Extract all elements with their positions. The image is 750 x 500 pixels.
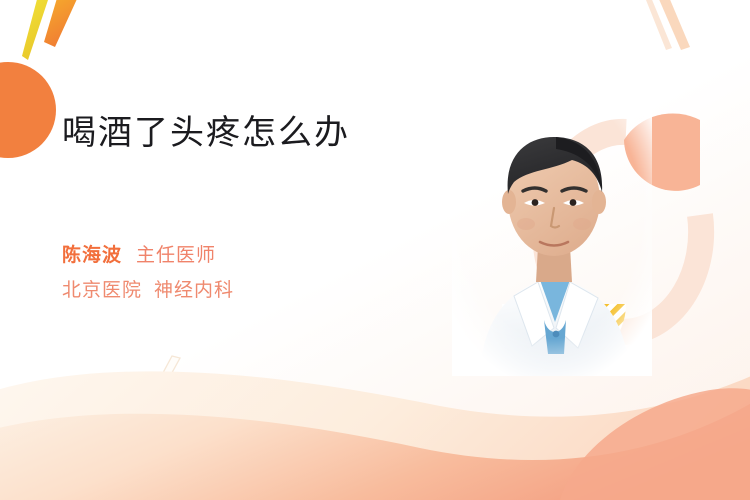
doctor-title: 主任医师 (136, 245, 216, 266)
promo-card: 喝酒了头疼怎么办 陈海波主任医师 北京医院神经内科 (0, 0, 750, 500)
page-title: 喝酒了头疼怎么办 (62, 112, 462, 155)
portrait-vignette (452, 96, 652, 376)
doctor-info: 陈海波主任医师 北京医院神经内科 (62, 246, 234, 300)
doctor-department: 神经内科 (154, 280, 234, 301)
doctor-affiliation-line: 北京医院神经内科 (62, 281, 234, 300)
doctor-portrait (452, 96, 652, 376)
title-block: 喝酒了头疼怎么办 (62, 112, 462, 155)
doctor-hospital: 北京医院 (62, 280, 142, 301)
portrait-illustration (452, 96, 652, 376)
doctor-name: 陈海波 (62, 245, 122, 266)
doctor-name-line: 陈海波主任医师 (62, 246, 234, 265)
